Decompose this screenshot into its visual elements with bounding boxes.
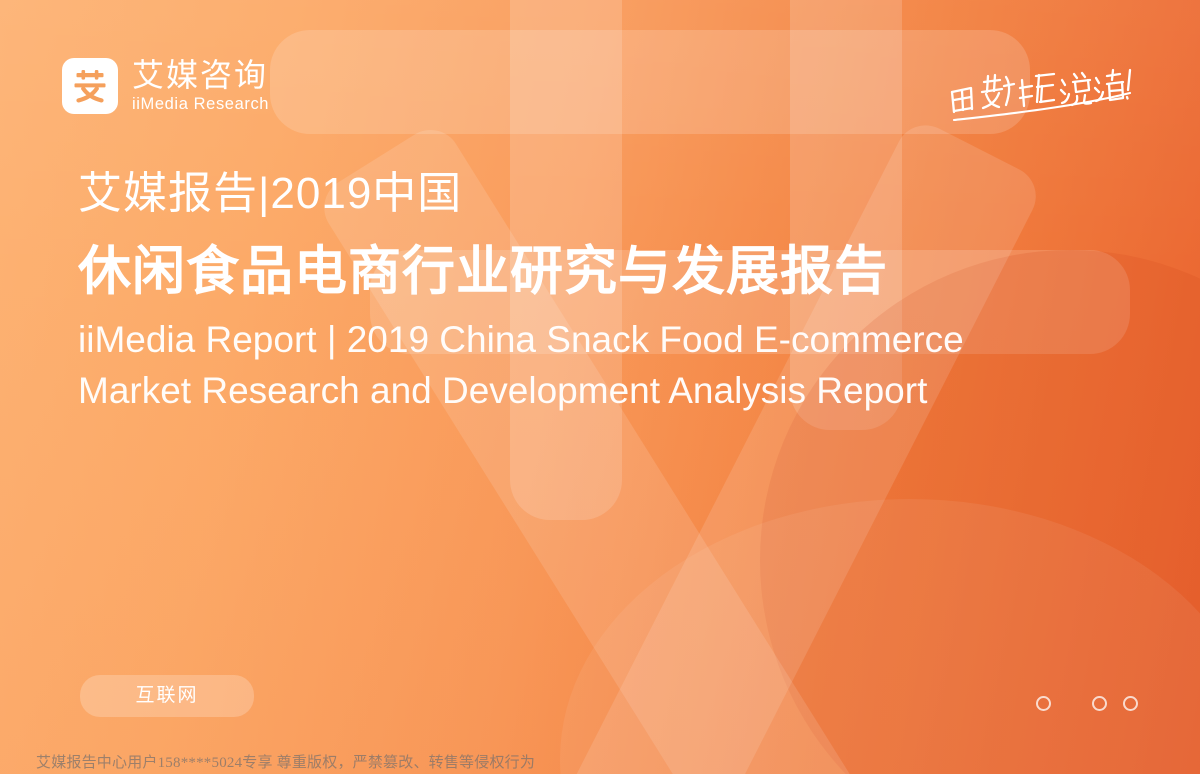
- brand-logo: 艾媒咨询 iiMedia Research: [62, 58, 269, 114]
- copyright-watermark: 艾媒报告中心用户158****5024专享 尊重版权，严禁篡改、转售等侵权行为: [36, 751, 535, 772]
- page-dot-3[interactable]: [1123, 696, 1138, 711]
- report-kicker: 艾媒报告|2019中国: [78, 166, 1078, 222]
- subtitle-line-1: iiMedia Report | 2019 China Snack Food E…: [78, 315, 1078, 365]
- page-indicator-dots: [1036, 693, 1138, 713]
- page-dot-1[interactable]: [1036, 696, 1051, 711]
- subtitle-english: iiMedia Report | 2019 China Snack Food E…: [78, 315, 1078, 416]
- bottom-white-strip: [0, 774, 1200, 779]
- handwritten-slogan: [944, 58, 1144, 136]
- report-cover-slide: 艾媒咨询 iiMedia Research: [0, 0, 1200, 779]
- category-tag[interactable]: 互联网: [80, 675, 254, 717]
- page-title: 休闲食品电商行业研究与发展报告: [78, 238, 1078, 307]
- page-dot-2[interactable]: [1092, 696, 1107, 711]
- title-block: 艾媒报告|2019中国 休闲食品电商行业研究与发展报告 iiMedia Repo…: [78, 166, 1078, 416]
- subtitle-line-2: Market Research and Development Analysis…: [78, 366, 1078, 416]
- brand-wordmark: 艾媒咨询 iiMedia Research: [132, 59, 269, 113]
- brand-name-cn: 艾媒咨询: [132, 59, 269, 91]
- brand-name-en: iiMedia Research: [132, 96, 269, 113]
- iimedia-logo-icon: [62, 58, 118, 114]
